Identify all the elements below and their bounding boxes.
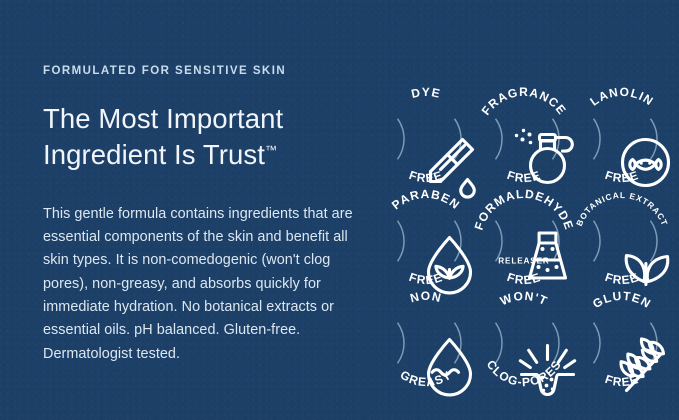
badge-non-greasy-graphic: NON GREASY — [379, 296, 473, 390]
headline-line-2: Ingredient Is Trust — [43, 139, 265, 170]
badge-formaldehyde-releaser-free-graphic: FORMALDEHYDE FREE RELEASER — [477, 194, 571, 288]
badge-dye-free-graphic: DYE FREE — [379, 92, 473, 186]
badge-botanical-extract-free-graphic: BOTANICAL EXTRACT FREE — [575, 194, 669, 288]
body-paragraph: This gentle formula contains ingredients… — [43, 203, 355, 366]
badge-wont-clog-pores: WON'T CLOG-PORES — [477, 296, 571, 390]
badge-top-text: PARABEN — [389, 187, 463, 212]
badge-fragrance-free-graphic: FRAGRANCE FREE — [477, 92, 571, 186]
badge-gluten-free-graphic: GLUTEN FREE — [575, 296, 669, 390]
badge-fragrance-free: FRAGRANCE FREE — [477, 92, 571, 186]
badge-bottom-text: FREE — [505, 168, 542, 185]
badge-non-greasy: NON GREASY — [379, 296, 473, 390]
page-title: The Most Important Ingredient Is Trust™ — [43, 101, 348, 173]
badge-ring — [496, 221, 559, 262]
badge-lanolin-free-graphic: LANOLIN FREE — [575, 92, 669, 186]
badge-grid: DYE FREE FRAGRANCE FREE — [375, 0, 679, 420]
badge-bottom-text: FREE — [603, 270, 640, 287]
eyebrow-label: FORMULATED FOR SENSITIVE SKIN — [43, 66, 375, 78]
badge-paraben-free: PARABEN FREE — [379, 194, 473, 288]
hero-section: FORMULATED FOR SENSITIVE SKIN The Most I… — [0, 0, 679, 420]
headline-line-1: The Most Important — [43, 103, 283, 134]
badge-top-text: FRAGRANCE — [479, 85, 570, 118]
badge-top-text: GLUTEN — [590, 289, 654, 311]
copy-column: FORMULATED FOR SENSITIVE SKIN The Most I… — [0, 0, 375, 420]
badge-top-text: DYE — [410, 85, 442, 101]
badge-top-text: WON'T — [498, 289, 550, 309]
badge-gluten-free: GLUTEN FREE — [575, 296, 669, 390]
badge-wont-clog-pores-graphic: WON'T CLOG-PORES — [477, 296, 571, 390]
badge-top-text: FORMALDEHYDE — [472, 187, 577, 232]
badge-bottom-text: GREASY — [398, 368, 455, 390]
badge-lanolin-free: LANOLIN FREE — [575, 92, 669, 186]
badge-top-text: LANOLIN — [587, 85, 656, 109]
badge-dye-free: DYE FREE — [379, 92, 473, 186]
badge-top-text: NON — [409, 289, 444, 305]
badge-formaldehyde-releaser-free: FORMALDEHYDE FREE RELEASER — [477, 194, 571, 288]
badge-top-text: BOTANICAL EXTRACT — [574, 190, 670, 228]
trademark-symbol: ™ — [265, 142, 277, 156]
badge-ring — [398, 119, 461, 160]
sheep-face-icon — [623, 140, 669, 186]
badge-paraben-free-graphic: PARABEN FREE — [379, 194, 473, 288]
badge-botanical-extract-free: BOTANICAL EXTRACT FREE — [575, 194, 669, 288]
badge-ring — [496, 323, 559, 364]
